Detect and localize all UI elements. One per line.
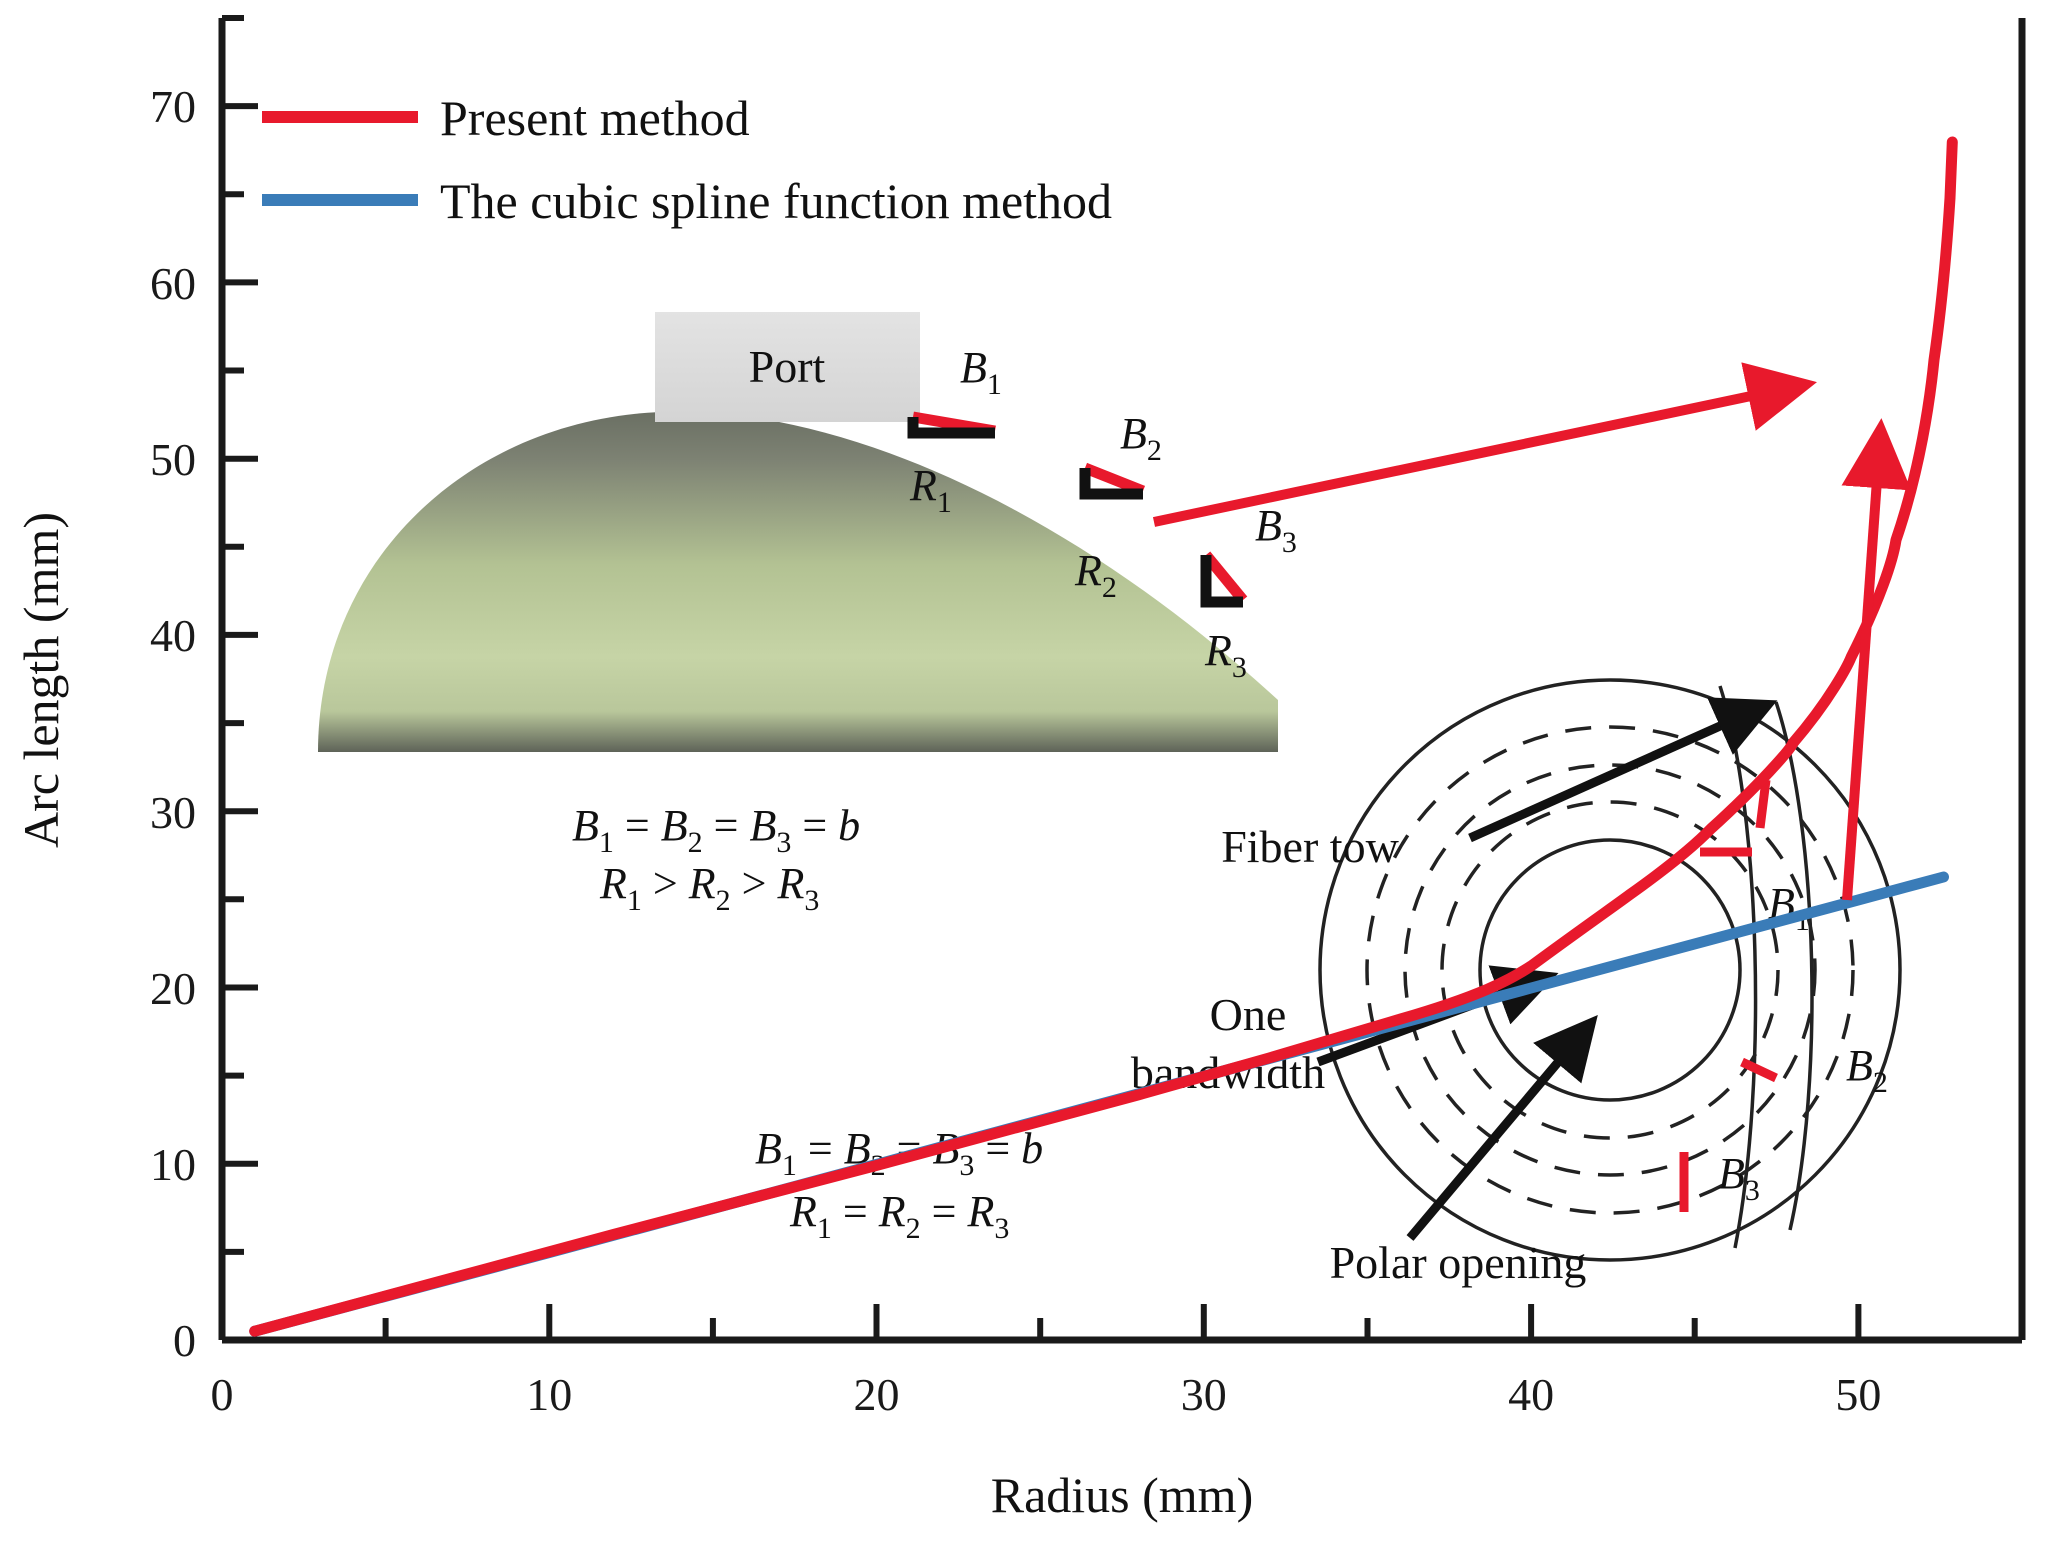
b1-marker bbox=[913, 417, 995, 433]
b2-label-polar: B2 bbox=[1846, 1041, 1888, 1099]
polar-opening-label: Polar opening bbox=[1330, 1237, 1587, 1288]
b1-label-dome: B1 bbox=[960, 343, 1002, 401]
y-tick-label-50: 50 bbox=[150, 434, 196, 485]
b2-marker bbox=[1085, 468, 1143, 494]
eq-top-line2: R1 > R2 > R3 bbox=[599, 859, 819, 917]
eq-bottom-line2: R1 = R2 = R3 bbox=[789, 1187, 1009, 1245]
y-tick-label-20: 20 bbox=[150, 963, 196, 1014]
equation-block-top: B1 = B2 = B3 = b R1 > R2 > R3 bbox=[572, 801, 860, 917]
y-tick-label-40: 40 bbox=[150, 610, 196, 661]
one-bandwidth-label-1: One bbox=[1210, 989, 1287, 1040]
y-tick-label-10: 10 bbox=[150, 1139, 196, 1190]
y-tick-label-70: 70 bbox=[150, 81, 196, 132]
b3-marker bbox=[1206, 555, 1243, 602]
y-axis-title: Arc length (mm) bbox=[13, 512, 69, 848]
y-tick-label-0: 0 bbox=[173, 1315, 196, 1366]
b3-label-dome: B3 bbox=[1255, 501, 1297, 559]
fiber-tow-leader bbox=[1470, 718, 1738, 838]
x-tick-label-40: 40 bbox=[1508, 1369, 1554, 1420]
arrow-dome-to-red-curve bbox=[1154, 392, 1770, 522]
x-tick-label-50: 50 bbox=[1835, 1369, 1881, 1420]
chart-figure: 0 10 20 30 40 50 60 70 0 10 20 30 40 50 bbox=[0, 0, 2048, 1553]
x-tick-label-0: 0 bbox=[211, 1369, 234, 1420]
legend-label-cubic-spline: The cubic spline function method bbox=[440, 173, 1112, 229]
x-axis-title: Radius (mm) bbox=[991, 1467, 1253, 1523]
dome-inset: Port B1 R1 B2 R2 B3 R3 bbox=[318, 224, 1297, 752]
fiber-tow-label: Fiber tow bbox=[1221, 821, 1399, 872]
legend: Present method The cubic spline function… bbox=[262, 90, 1112, 229]
arrow-circle-to-blue-curve bbox=[1847, 466, 1878, 900]
x-tick-label-20: 20 bbox=[854, 1369, 900, 1420]
y-tick-label-30: 30 bbox=[150, 787, 196, 838]
port-label: Port bbox=[749, 341, 826, 392]
chart-svg: 0 10 20 30 40 50 60 70 0 10 20 30 40 50 bbox=[0, 0, 2048, 1553]
dome-shape bbox=[318, 412, 1278, 752]
x-tick-label-10: 10 bbox=[526, 1369, 572, 1420]
y-tick-label-60: 60 bbox=[150, 258, 196, 309]
legend-label-present-method: Present method bbox=[440, 90, 750, 146]
b2-label-dome: B2 bbox=[1120, 409, 1162, 467]
x-axis-ticks: 0 10 20 30 40 50 bbox=[211, 1304, 2023, 1420]
polar-inset: B1 B2 B3 Fiber tow One bandwidth Polar o… bbox=[1131, 680, 1900, 1288]
x-tick-label-30: 30 bbox=[1181, 1369, 1227, 1420]
b3-label-polar: B3 bbox=[1718, 1149, 1760, 1207]
eq-top-line1: B1 = B2 = B3 = b bbox=[572, 801, 860, 859]
y-axis-ticks: 0 10 20 30 40 50 60 70 bbox=[150, 18, 258, 1366]
